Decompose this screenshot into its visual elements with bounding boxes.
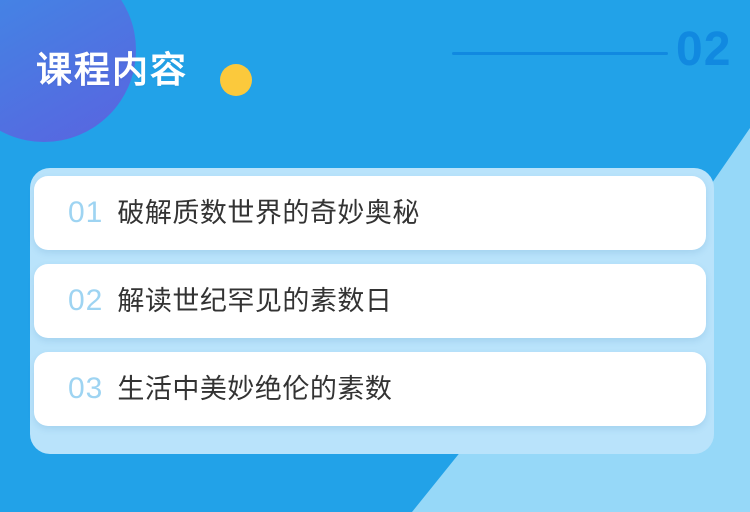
list-item[interactable]: 01 破解质数世界的奇妙奥秘 [34, 176, 706, 250]
list-item-label: 生活中美妙绝伦的素数 [117, 376, 392, 403]
slide-header: 课程内容 02 [0, 0, 750, 150]
yellow-dot-icon [220, 64, 252, 96]
course-content-list: 01 破解质数世界的奇妙奥秘 02 解读世纪罕见的素数日 03 生活中美妙绝伦的… [34, 176, 706, 426]
slide-canvas: 课程内容 02 01 破解质数世界的奇妙奥秘 02 解读世纪罕见的素数日 03 … [0, 0, 750, 512]
section-number: 02 [676, 26, 731, 74]
horizontal-rule-icon [452, 52, 668, 55]
list-item-label: 破解质数世界的奇妙奥秘 [117, 200, 420, 227]
list-item[interactable]: 02 解读世纪罕见的素数日 [34, 264, 706, 338]
list-item[interactable]: 03 生活中美妙绝伦的素数 [34, 352, 706, 426]
list-item-label: 解读世纪罕见的素数日 [117, 288, 392, 315]
list-item-number: 02 [68, 286, 103, 316]
page-title: 课程内容 [36, 52, 188, 88]
list-item-number: 01 [68, 198, 103, 228]
list-item-number: 03 [68, 374, 103, 404]
